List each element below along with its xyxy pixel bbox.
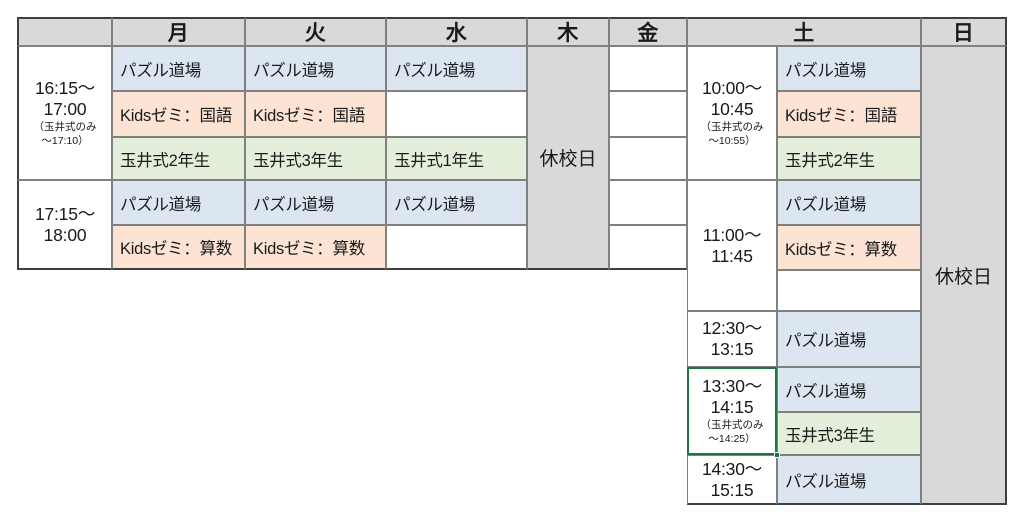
time-slot-1000-line2: 10:45 bbox=[711, 99, 754, 120]
time-slot-1615-note1: （玉井式のみ bbox=[34, 121, 97, 134]
time-slot-1615-note2: 〜17:10） bbox=[41, 135, 88, 148]
header-day-sun: 日 bbox=[921, 17, 1007, 46]
cell-sat-1100-3 bbox=[777, 270, 921, 311]
header-day-sat: 土 bbox=[687, 17, 921, 46]
time-slot-1330[interactable]: 13:30〜 14:15 （玉井式のみ 〜14:25） bbox=[687, 367, 777, 455]
time-slot-1330-line2: 14:15 bbox=[711, 397, 754, 418]
header-day-thu: 木 bbox=[527, 17, 609, 46]
header-day-fri: 金 bbox=[609, 17, 687, 46]
cell-mon-1615-3: 玉井式2年生 bbox=[112, 137, 245, 180]
time-slot-1330-note1: （玉井式のみ bbox=[701, 419, 764, 432]
time-slot-1000-note2: 〜10:55） bbox=[708, 135, 755, 148]
header-corner-blank bbox=[17, 17, 112, 46]
cell-sat-1000-1: パズル道場 bbox=[777, 46, 921, 91]
time-slot-1000-note1: （玉井式のみ bbox=[701, 121, 764, 134]
time-slot-1615: 16:15〜 17:00 （玉井式のみ 〜17:10） bbox=[17, 46, 112, 180]
time-slot-1430: 14:30〜 15:15 bbox=[687, 455, 777, 505]
cell-tue-1615-1: パズル道場 bbox=[245, 46, 386, 91]
header-day-mon: 月 bbox=[112, 17, 245, 46]
cell-sat-1230-1: パズル道場 bbox=[777, 311, 921, 367]
cell-sun-closed: 休校日 bbox=[921, 46, 1007, 505]
cell-mon-1615-1: パズル道場 bbox=[112, 46, 245, 91]
header-day-wed: 水 bbox=[386, 17, 527, 46]
time-slot-1715-line1: 17:15〜 bbox=[35, 204, 95, 225]
schedule-table-screenshot: 月 火 水 木 金 土 日 16:15〜 17:00 （玉井式のみ 〜17:10… bbox=[0, 0, 1024, 519]
cell-wed-1615-2 bbox=[386, 91, 527, 137]
time-slot-1430-line2: 15:15 bbox=[711, 480, 754, 501]
cell-fri-1715-2 bbox=[609, 225, 687, 270]
cell-wed-1715-2 bbox=[386, 225, 527, 270]
time-slot-1230-line1: 12:30〜 bbox=[702, 318, 762, 339]
cell-tue-1615-2: Kidsゼミ：国語 bbox=[245, 91, 386, 137]
cell-sat-1000-2: Kidsゼミ：国語 bbox=[777, 91, 921, 137]
cell-fri-1715-1 bbox=[609, 180, 687, 225]
cell-wed-1615-1: パズル道場 bbox=[386, 46, 527, 91]
cell-tue-1615-3: 玉井式3年生 bbox=[245, 137, 386, 180]
cell-tue-1715-2: Kidsゼミ：算数 bbox=[245, 225, 386, 270]
cell-selection-fill-handle[interactable] bbox=[774, 452, 780, 458]
time-slot-1615-line2: 17:00 bbox=[44, 99, 87, 120]
cell-sat-1330-1: パズル道場 bbox=[777, 367, 921, 412]
time-slot-1430-line1: 14:30〜 bbox=[702, 459, 762, 480]
header-day-tue: 火 bbox=[245, 17, 386, 46]
cell-wed-1615-3: 玉井式1年生 bbox=[386, 137, 527, 180]
cell-fri-1615-1 bbox=[609, 46, 687, 91]
cell-fri-1615-3 bbox=[609, 137, 687, 180]
time-slot-1230-line2: 13:15 bbox=[711, 339, 754, 360]
time-slot-1615-line1: 16:15〜 bbox=[35, 78, 95, 99]
cell-mon-1715-2: Kidsゼミ：算数 bbox=[112, 225, 245, 270]
time-slot-1715: 17:15〜 18:00 bbox=[17, 180, 112, 270]
time-slot-1330-note2: 〜14:25） bbox=[708, 433, 755, 446]
cell-sat-1430-1: パズル道場 bbox=[777, 455, 921, 505]
cell-sat-1330-2: 玉井式3年生 bbox=[777, 412, 921, 455]
cell-mon-1715-1: パズル道場 bbox=[112, 180, 245, 225]
time-slot-1000-line1: 10:00〜 bbox=[702, 78, 762, 99]
time-slot-1000: 10:00〜 10:45 （玉井式のみ 〜10:55） bbox=[687, 46, 777, 180]
cell-wed-1715-1: パズル道場 bbox=[386, 180, 527, 225]
time-slot-1330-line1: 13:30〜 bbox=[702, 376, 762, 397]
time-slot-1100-line1: 11:00〜 bbox=[703, 225, 762, 246]
cell-mon-1615-2: Kidsゼミ：国語 bbox=[112, 91, 245, 137]
cell-fri-1615-2 bbox=[609, 91, 687, 137]
cell-thu-closed: 休校日 bbox=[527, 46, 609, 270]
time-slot-1100: 11:00〜 11:45 bbox=[687, 180, 777, 311]
cell-sat-1100-2: Kidsゼミ：算数 bbox=[777, 225, 921, 270]
cell-tue-1715-1: パズル道場 bbox=[245, 180, 386, 225]
time-slot-1230: 12:30〜 13:15 bbox=[687, 311, 777, 367]
cell-sat-1100-1: パズル道場 bbox=[777, 180, 921, 225]
time-slot-1715-line2: 18:00 bbox=[44, 225, 87, 246]
cell-sat-1000-3: 玉井式2年生 bbox=[777, 137, 921, 180]
time-slot-1100-line2: 11:45 bbox=[711, 246, 753, 267]
